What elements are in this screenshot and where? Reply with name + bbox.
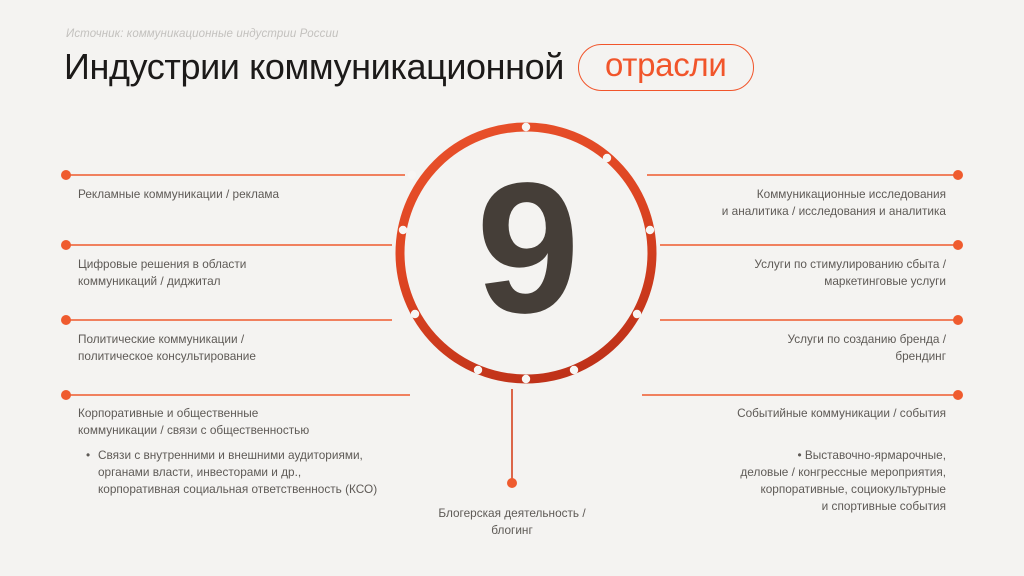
left-item-1: Рекламные коммуникации / реклама — [78, 186, 378, 203]
right-item-3: Услуги по созданию бренда / брендинг — [636, 331, 946, 365]
center-ring: 9 — [390, 117, 662, 389]
bottom-item: Блогерская деятельность / блогинг — [0, 505, 1024, 539]
left-sub-item-1: Связи с внутренними и внешними аудитория… — [86, 447, 386, 498]
left-item-2: Цифровые решения в области коммуникаций … — [78, 256, 378, 290]
right-item-2: Услуги по стимулированию сбыта / маркети… — [636, 256, 946, 290]
title-text: Индустрии коммуникационной — [64, 49, 564, 85]
center-number: 9 — [390, 117, 662, 389]
infographic-slide: Источник: коммуникационные индустрии Рос… — [0, 0, 1024, 576]
left-item-3: Политические коммуникации / политическое… — [78, 331, 378, 365]
right-item-1: Коммуникационные исследования и аналитик… — [636, 186, 946, 220]
page-title: Индустрии коммуникационной отрасли — [64, 44, 754, 91]
source-caption: Источник: коммуникационные индустрии Рос… — [66, 28, 338, 40]
title-badge: отрасли — [578, 44, 754, 91]
left-sub-list: Связи с внутренними и внешними аудитория… — [86, 447, 386, 498]
right-item-4: Событийные коммуникации / события — [636, 405, 946, 422]
left-item-4: Корпоративные и общественные коммуникаци… — [78, 405, 398, 439]
